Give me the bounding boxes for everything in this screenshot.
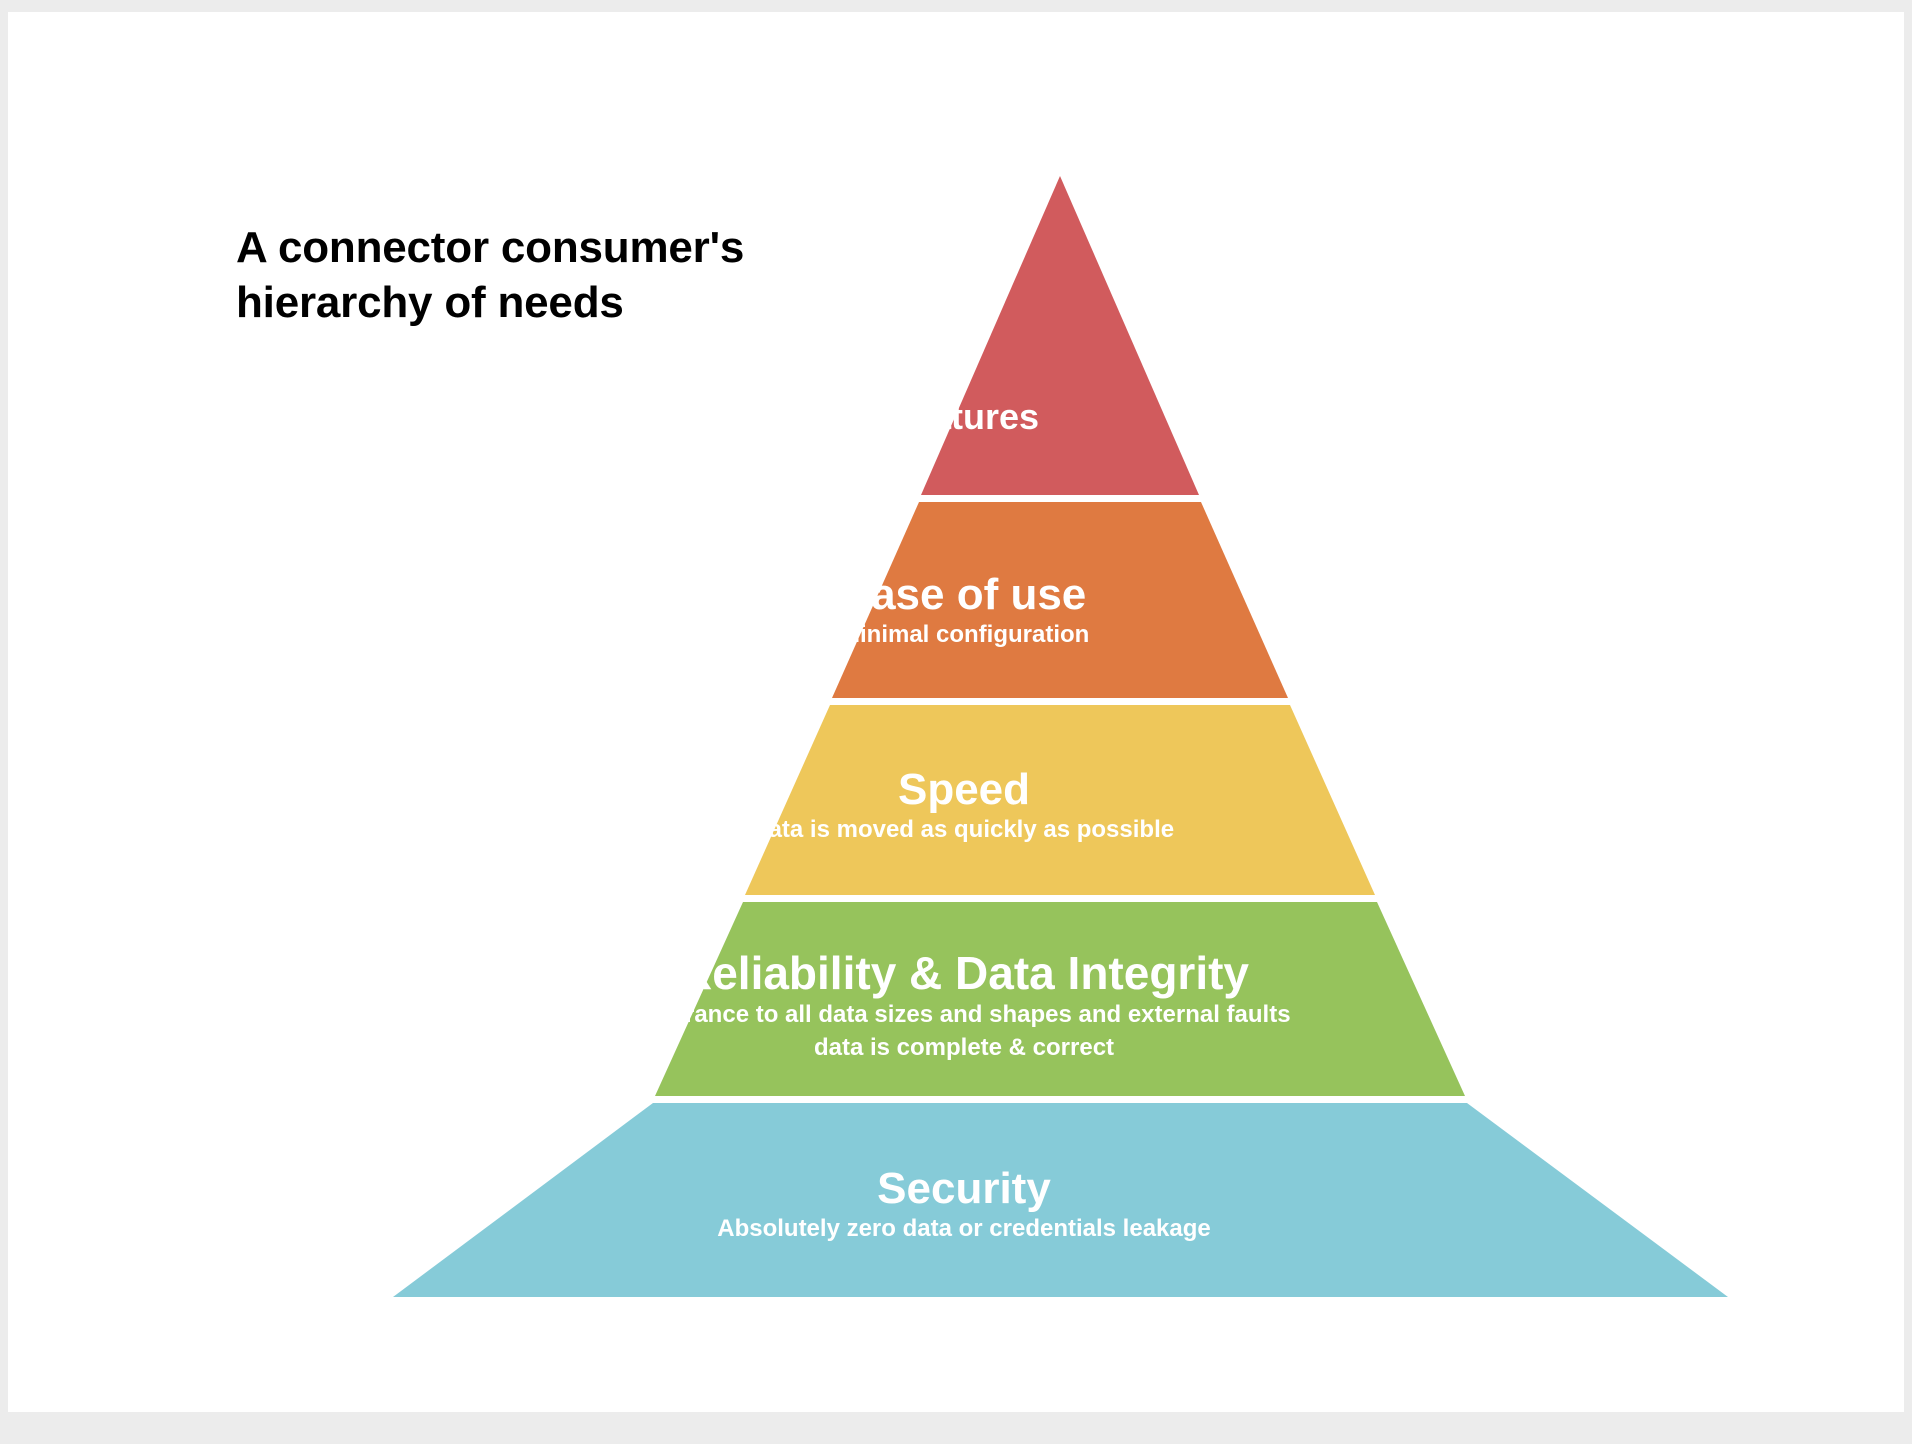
pyramid-tier-reliability-subtitle-line-2: data is complete & correct [8, 1031, 1912, 1064]
pyramid-tier-speed-title: Speed [8, 767, 1912, 813]
pyramid-tier-reliability-title: Reliability & Data Integrity [8, 950, 1912, 998]
pyramid-tier-features-title: Features [8, 398, 1912, 435]
pyramid-tier-speed-subtitle: data is moved as quickly as possible [8, 813, 1912, 846]
pyramid-tier-reliability[interactable]: Reliability & Data Integrity Tolerance t… [8, 950, 1912, 1064]
screenshot-canvas: A connector consumer's hierarchy of need… [0, 0, 1912, 1432]
pyramid-tier-security-title: Security [8, 1166, 1912, 1212]
pyramid-tier-ease-of-use[interactable]: Ease of use minimal configuration [8, 572, 1912, 651]
pyramid-tier-security[interactable]: Security Absolutely zero data or credent… [8, 1166, 1912, 1245]
pyramid-tier-features[interactable]: Features [8, 398, 1912, 435]
pyramid-tier-security-subtitle: Absolutely zero data or credentials leak… [8, 1212, 1912, 1245]
pyramid-tier-reliability-subtitle-line-1: Tolerance to all data sizes and shapes a… [8, 998, 1912, 1031]
pyramid-tier-ease-of-use-title: Ease of use [8, 572, 1912, 618]
slide-surface: A connector consumer's hierarchy of need… [8, 12, 1904, 1412]
pyramid-tier-features-shape[interactable] [921, 176, 1199, 495]
pyramid-diagram: Features Ease of use minimal configurati… [8, 12, 1912, 1444]
pyramid-tier-speed[interactable]: Speed data is moved as quickly as possib… [8, 767, 1912, 846]
pyramid-tier-ease-of-use-subtitle: minimal configuration [8, 618, 1912, 651]
